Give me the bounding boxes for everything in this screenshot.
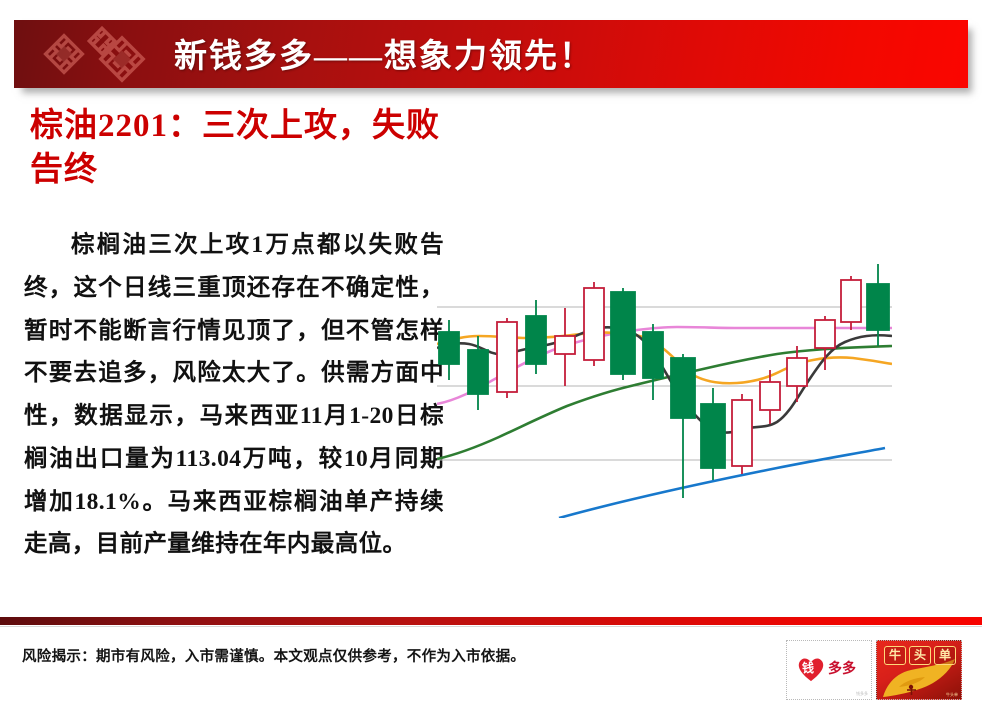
candle-6 xyxy=(584,282,604,366)
slide-canvas: 新钱多多——想象力领先！ 棕油2201：三次上攻，失败告终 棕榈油三次上攻1万点… xyxy=(0,0,982,720)
qianduoduo-watermark: 钱多多 xyxy=(856,691,868,697)
chinese-knot-lattice-icon xyxy=(30,23,158,85)
niutoudan-watermark: 牛头单 xyxy=(946,692,958,698)
candle-5 xyxy=(555,308,575,386)
niutoudan-char-3: 单 xyxy=(934,646,956,665)
niutoudan-badge: 牛 头 单 牛头单 xyxy=(876,640,962,700)
candle-7 xyxy=(611,288,635,380)
qianduoduo-heart-char: 钱 xyxy=(802,662,814,674)
brand-logos: 钱 多多 钱多多 牛 头 单 牛头单 xyxy=(786,640,966,702)
candle-8 xyxy=(643,324,663,400)
niutoudan-char-2: 头 xyxy=(909,646,931,665)
candle-1 xyxy=(439,320,459,380)
candle-series xyxy=(439,264,889,498)
candle-15 xyxy=(841,276,861,330)
candle-16 xyxy=(867,264,889,346)
qianduoduo-badge: 钱 多多 钱多多 xyxy=(786,640,872,700)
header-banner: 新钱多多——想象力领先！ xyxy=(14,20,968,88)
body-paragraph: 棕榈油三次上攻1万点都以失败告终，这个日线三重顶还存在不确定性，暂时不能断言行情… xyxy=(24,224,444,566)
page-title: 棕油2201：三次上攻，失败告终 xyxy=(30,104,460,192)
banner-title: 新钱多多——想象力领先！ xyxy=(174,29,594,77)
footer-rule-thin xyxy=(0,626,982,627)
qianduoduo-brand-char: 多多 xyxy=(828,663,856,677)
candle-10 xyxy=(701,388,725,480)
candle-2 xyxy=(468,336,488,410)
niutoudan-char-row: 牛 头 单 xyxy=(882,646,958,665)
candle-13 xyxy=(787,346,807,402)
candlestick-chart xyxy=(437,258,892,518)
niutoudan-char-1: 牛 xyxy=(884,646,906,665)
risk-disclaimer: 风险揭示：期市有风险，入市需谨慎。本文观点仅供参考，不作为入市依据。 xyxy=(22,645,722,666)
chart-svg xyxy=(437,258,892,518)
footer-rule xyxy=(0,617,982,625)
candle-14 xyxy=(815,316,835,370)
candle-11 xyxy=(732,394,752,474)
candle-9 xyxy=(671,354,695,498)
candle-4 xyxy=(526,300,546,374)
candle-3 xyxy=(497,318,517,398)
